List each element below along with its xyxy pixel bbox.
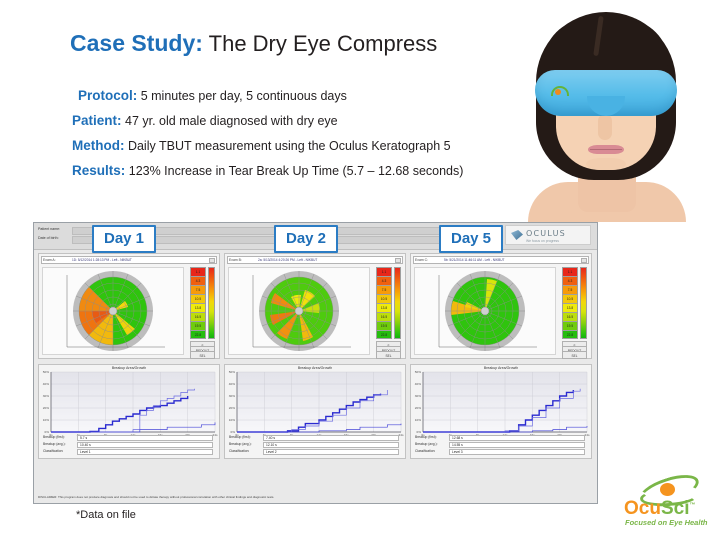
patient-name-label: Patient name: xyxy=(38,227,64,231)
readouts-day1: Breakup (first):5.7 s Breakup (avg.):10.… xyxy=(43,435,215,456)
scale-band: 19.5 xyxy=(562,321,578,330)
scale-band: 1.1 xyxy=(562,267,578,276)
y-tick-label: 20% xyxy=(43,406,49,410)
readout-row: Breakup (first):12.68 s xyxy=(415,435,587,441)
color-scale-gradient-day5 xyxy=(580,267,587,339)
y-tick-label: 20% xyxy=(229,406,235,410)
bullet-method: Method: Daily TBUT measurement using the… xyxy=(72,138,502,154)
oculus-mark-icon xyxy=(511,230,523,240)
series-area-growth xyxy=(423,389,580,432)
breakup-chart-panel-day2: Breakup Area/Growth 0%10%20%30%40%50%0s4… xyxy=(224,364,406,459)
side-button-sel-day1[interactable]: SEL xyxy=(190,351,215,359)
app-disclaimer: DISCLAIMER: This program does not produc… xyxy=(38,495,594,500)
y-tick-label: 30% xyxy=(415,394,421,398)
topography-panel-day2: Exam B: 2a: 5/13/2014 4:20:26 PM - Left … xyxy=(224,253,406,359)
exam-value-b: 2a: 5/13/2014 4:20:26 PM - Left - NIKBUT xyxy=(258,258,317,262)
model-lips xyxy=(588,145,624,154)
keratograph-application-window: Patient name: Date of birth: OCULUS We f… xyxy=(33,222,598,504)
color-scale-labels-day5: 1.1 4.3 7.5 10.5 13.8 16.5 19.5 22.8 xyxy=(562,267,578,339)
readout-row: Classification:Level 1 xyxy=(43,449,215,455)
readout-row: Classification:Level 2 xyxy=(229,449,401,455)
readout-value-breakup-avg-day1: 10.40 s xyxy=(77,442,213,448)
readout-value-classification-day5: Level 3 xyxy=(449,449,585,455)
y-tick-label: 50% xyxy=(229,370,235,374)
y-tick-label: 20% xyxy=(415,406,421,410)
scale-band: 13.8 xyxy=(562,303,578,312)
readout-label-breakup-avg-day1: Breakup (avg.): xyxy=(43,442,66,446)
oculus-logo-tagline: We focus on progress xyxy=(526,239,559,243)
ocusci-wordmark: OcuSci™ xyxy=(624,498,695,520)
scale-band: 16.5 xyxy=(562,312,578,321)
exam-label-b: Exam B: xyxy=(229,258,242,262)
date-of-birth-field[interactable]: Date of birth: xyxy=(38,236,64,240)
exam-selector-c[interactable]: Exam C: 5b: 5/21/2014 11:46:11 AM - Left… xyxy=(413,256,589,264)
footnote-data-on-file: *Data on file xyxy=(76,509,136,521)
chart-plot-day5: 0%10%20%30%40%50%0s4s8s12s16s20s24s xyxy=(423,372,587,432)
title-rest: The Dry Eye Compress xyxy=(203,31,437,56)
scale-band: 10.5 xyxy=(190,294,206,303)
bullet-text-patient: 47 yr. old male diagnosed with dry eye xyxy=(122,114,338,128)
bullet-patient: Patient: 47 yr. old male diagnosed with … xyxy=(72,113,502,129)
scale-band: 22.8 xyxy=(190,330,206,339)
readout-value-breakup-first-day2: 7.40 s xyxy=(263,435,399,441)
chart-svg-day2 xyxy=(237,372,401,432)
bullet-text-protocol: 5 minutes per day, 5 continuous days xyxy=(137,89,347,103)
y-tick-label: 0% xyxy=(417,430,421,434)
bullet-label-results: Results: xyxy=(72,163,125,178)
readout-value-breakup-first-day1: 5.7 s xyxy=(77,435,213,441)
scale-band: 7.5 xyxy=(376,285,392,294)
readout-label-breakup-avg-day2: Breakup (avg.): xyxy=(229,442,252,446)
scale-band: 16.5 xyxy=(376,312,392,321)
chevron-down-icon[interactable] xyxy=(209,258,215,263)
topography-canvas-day5 xyxy=(414,267,556,355)
exam-label-a: Exam A: xyxy=(43,258,56,262)
readout-row: Breakup (avg.):14.55 s xyxy=(415,442,587,448)
chevron-down-icon[interactable] xyxy=(581,258,587,263)
color-scale-labels-day2: 1.1 4.3 7.5 10.5 13.8 16.5 19.5 22.8 xyxy=(376,267,392,339)
exam-value-a: 1D: 5/12/2014 1:28:13 PM - Left - NIKBUT xyxy=(72,258,132,262)
bullet-label-protocol: Protocol: xyxy=(78,88,137,103)
exam-value-c: 5b: 5/21/2014 11:46:11 AM - Left - NIKBU… xyxy=(444,258,504,262)
bullet-label-patient: Patient: xyxy=(72,113,122,128)
scale-band: 19.5 xyxy=(190,321,206,330)
readout-row: Breakup (avg.):12.10 s xyxy=(229,442,401,448)
model-nose xyxy=(598,114,612,140)
y-tick-label: 10% xyxy=(415,418,421,422)
ocusci-eye-icon xyxy=(638,478,694,500)
readouts-day2: Breakup (first):7.40 s Breakup (avg.):12… xyxy=(229,435,401,456)
y-tick-label: 0% xyxy=(231,430,235,434)
day-badge-1: Day 1 xyxy=(92,225,156,253)
color-scale-gradient-day1 xyxy=(208,267,215,339)
topography-canvas-day2 xyxy=(228,267,370,355)
readout-row: Breakup (first):7.40 s xyxy=(229,435,401,441)
bullet-results: Results: 123% Increase in Tear Break Up … xyxy=(72,163,502,179)
series-area-growth xyxy=(237,390,387,432)
chart-title-day2: Breakup Area/Growth xyxy=(225,366,405,370)
topography-canvas-day1 xyxy=(42,267,184,355)
breakup-chart-panel-day1: Breakup Area/Growth 0%10%20%30%40%50%0s4… xyxy=(38,364,220,459)
readout-value-classification-day2: Level 2 xyxy=(263,449,399,455)
bullet-text-method: Daily TBUT measurement using the Oculus … xyxy=(124,139,450,153)
y-tick-label: 30% xyxy=(43,394,49,398)
y-tick-label: 40% xyxy=(415,382,421,386)
chart-title-day1: Breakup Area/Growth xyxy=(39,366,219,370)
breakup-map-day5 xyxy=(425,267,545,355)
bullet-protocol: Protocol: 5 minutes per day, 5 continuou… xyxy=(72,88,502,104)
chart-plot-day2: 0%10%20%30%40%50%0s4s8s12s16s20s24s xyxy=(237,372,401,432)
bullet-list: Protocol: 5 minutes per day, 5 continuou… xyxy=(72,88,502,188)
exam-selector-a[interactable]: Exam A: 1D: 5/12/2014 1:28:13 PM - Left … xyxy=(41,256,217,264)
chart-title-day5: Breakup Area/Growth xyxy=(411,366,591,370)
y-tick-label: 10% xyxy=(229,418,235,422)
y-tick-label: 30% xyxy=(229,394,235,398)
y-tick-label: 50% xyxy=(415,370,421,374)
date-of-birth-label: Date of birth: xyxy=(38,236,64,240)
scale-band: 4.3 xyxy=(562,276,578,285)
exam-selector-b[interactable]: Exam B: 2a: 5/13/2014 4:20:26 PM - Left … xyxy=(227,256,403,264)
scale-band: 10.5 xyxy=(376,294,392,303)
readout-value-classification-day1: Level 1 xyxy=(77,449,213,455)
readout-label-breakup-first-day5: Breakup (first): xyxy=(415,435,437,439)
y-tick-label: 40% xyxy=(43,382,49,386)
title-strong: Case Study: xyxy=(70,30,203,56)
scale-band: 13.8 xyxy=(190,303,206,312)
chart-svg-day5 xyxy=(423,372,587,432)
readout-label-breakup-avg-day5: Breakup (avg.): xyxy=(415,442,438,446)
side-button-sel-day2[interactable]: SEL xyxy=(376,351,401,359)
patient-name-field[interactable]: Patient name: xyxy=(38,227,64,231)
scale-band: 7.5 xyxy=(562,285,578,294)
scale-band: 4.3 xyxy=(190,276,206,285)
bullet-text-results: 123% Increase in Tear Break Up Time (5.7… xyxy=(125,164,463,178)
mask-ocusci-logo-icon xyxy=(547,86,581,102)
readout-label-classification-day2: Classification: xyxy=(229,449,249,453)
eye-compress-mask xyxy=(535,70,677,116)
scale-band: 13.8 xyxy=(376,303,392,312)
chart-svg-day1 xyxy=(51,372,215,432)
readout-label-breakup-first-day1: Breakup (first): xyxy=(43,435,65,439)
exam-label-c: Exam C: xyxy=(415,258,428,262)
scale-band: 16.5 xyxy=(190,312,206,321)
series-cumulative-breakup xyxy=(51,396,188,432)
topography-panel-day1: Exam A: 1D: 5/12/2014 1:28:13 PM - Left … xyxy=(38,253,220,359)
series-cumulative-breakup xyxy=(423,390,573,432)
side-button-sel-day5[interactable]: SEL xyxy=(562,351,587,359)
chevron-down-icon[interactable] xyxy=(395,258,401,263)
topography-panel-day5: Exam C: 5b: 5/21/2014 11:46:11 AM - Left… xyxy=(410,253,592,359)
scale-band: 19.5 xyxy=(376,321,392,330)
scale-band: 7.5 xyxy=(190,285,206,294)
oculus-logo-name: OCULUS xyxy=(526,229,566,238)
page-title: Case Study: The Dry Eye Compress xyxy=(70,30,500,57)
day-badge-2: Day 2 xyxy=(274,225,338,253)
ocusci-brand-logo: OcuSci™ Focused on Eye Health xyxy=(620,478,712,526)
oculus-vendor-logo: OCULUS We focus on progress xyxy=(505,225,591,245)
readout-row: Breakup (first):5.7 s xyxy=(43,435,215,441)
readout-row: Breakup (avg.):10.40 s xyxy=(43,442,215,448)
scale-band: 22.8 xyxy=(376,330,392,339)
readout-value-breakup-avg-day5: 14.55 s xyxy=(449,442,585,448)
readout-label-breakup-first-day2: Breakup (first): xyxy=(229,435,251,439)
readout-value-breakup-first-day5: 12.68 s xyxy=(449,435,585,441)
model-chin xyxy=(586,158,626,170)
bullet-label-method: Method: xyxy=(72,138,124,153)
y-tick-label: 40% xyxy=(229,382,235,386)
chart-plot-day1: 0%10%20%30%40%50%0s4s8s12s16s20s24s xyxy=(51,372,215,432)
day-badge-5: Day 5 xyxy=(439,225,503,253)
readouts-day5: Breakup (first):12.68 s Breakup (avg.):1… xyxy=(415,435,587,456)
readout-label-classification-day1: Classification: xyxy=(43,449,63,453)
color-scale-gradient-day2 xyxy=(394,267,401,339)
series-area-growth xyxy=(51,389,195,432)
scale-band: 22.8 xyxy=(562,330,578,339)
y-tick-label: 10% xyxy=(43,418,49,422)
model-photo-eye-compress xyxy=(500,2,712,214)
ocusci-tagline: Focused on Eye Health xyxy=(625,518,708,527)
breakup-map-day1 xyxy=(53,267,173,355)
scale-band: 1.1 xyxy=(190,267,206,276)
readout-row: Classification:Level 3 xyxy=(415,449,587,455)
scale-band: 10.5 xyxy=(562,294,578,303)
readout-value-breakup-avg-day2: 12.10 s xyxy=(263,442,399,448)
y-tick-label: 0% xyxy=(45,430,49,434)
scale-band: 1.1 xyxy=(376,267,392,276)
breakup-chart-panel-day5: Breakup Area/Growth 0%10%20%30%40%50%0s4… xyxy=(410,364,592,459)
readout-label-classification-day5: Classification: xyxy=(415,449,435,453)
breakup-map-day2 xyxy=(239,267,359,355)
scale-band: 4.3 xyxy=(376,276,392,285)
y-tick-label: 50% xyxy=(43,370,49,374)
color-scale-labels-day1: 1.1 4.3 7.5 10.5 13.8 16.5 19.5 22.8 xyxy=(190,267,206,339)
